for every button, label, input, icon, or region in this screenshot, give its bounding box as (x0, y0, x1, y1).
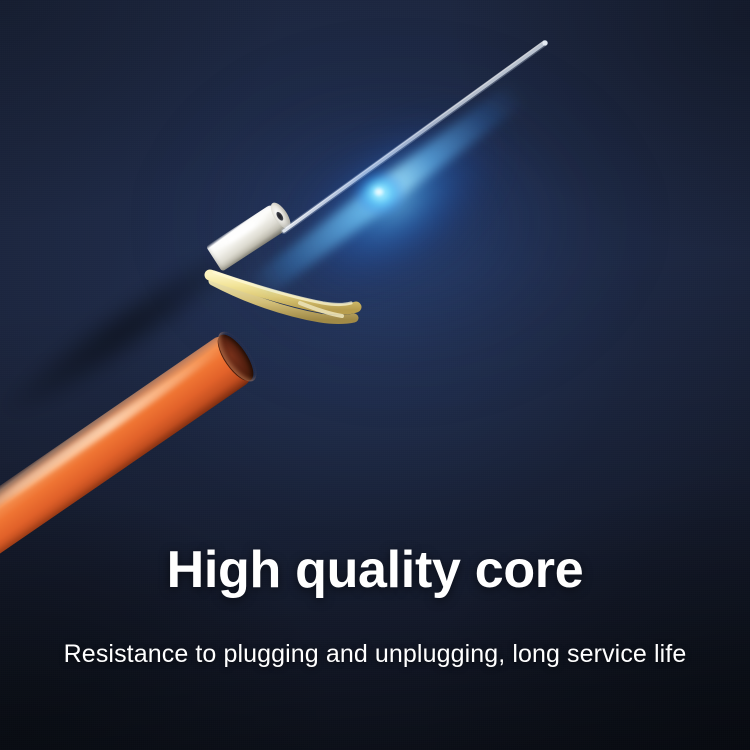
page-title: High quality core (0, 540, 750, 600)
fiber-optic-cable (0, 0, 750, 750)
core-glow-spark (370, 184, 388, 200)
product-banner: High quality core Resistance to plugging… (0, 0, 750, 750)
page-subtitle: Resistance to plugging and unplugging, l… (0, 640, 750, 669)
